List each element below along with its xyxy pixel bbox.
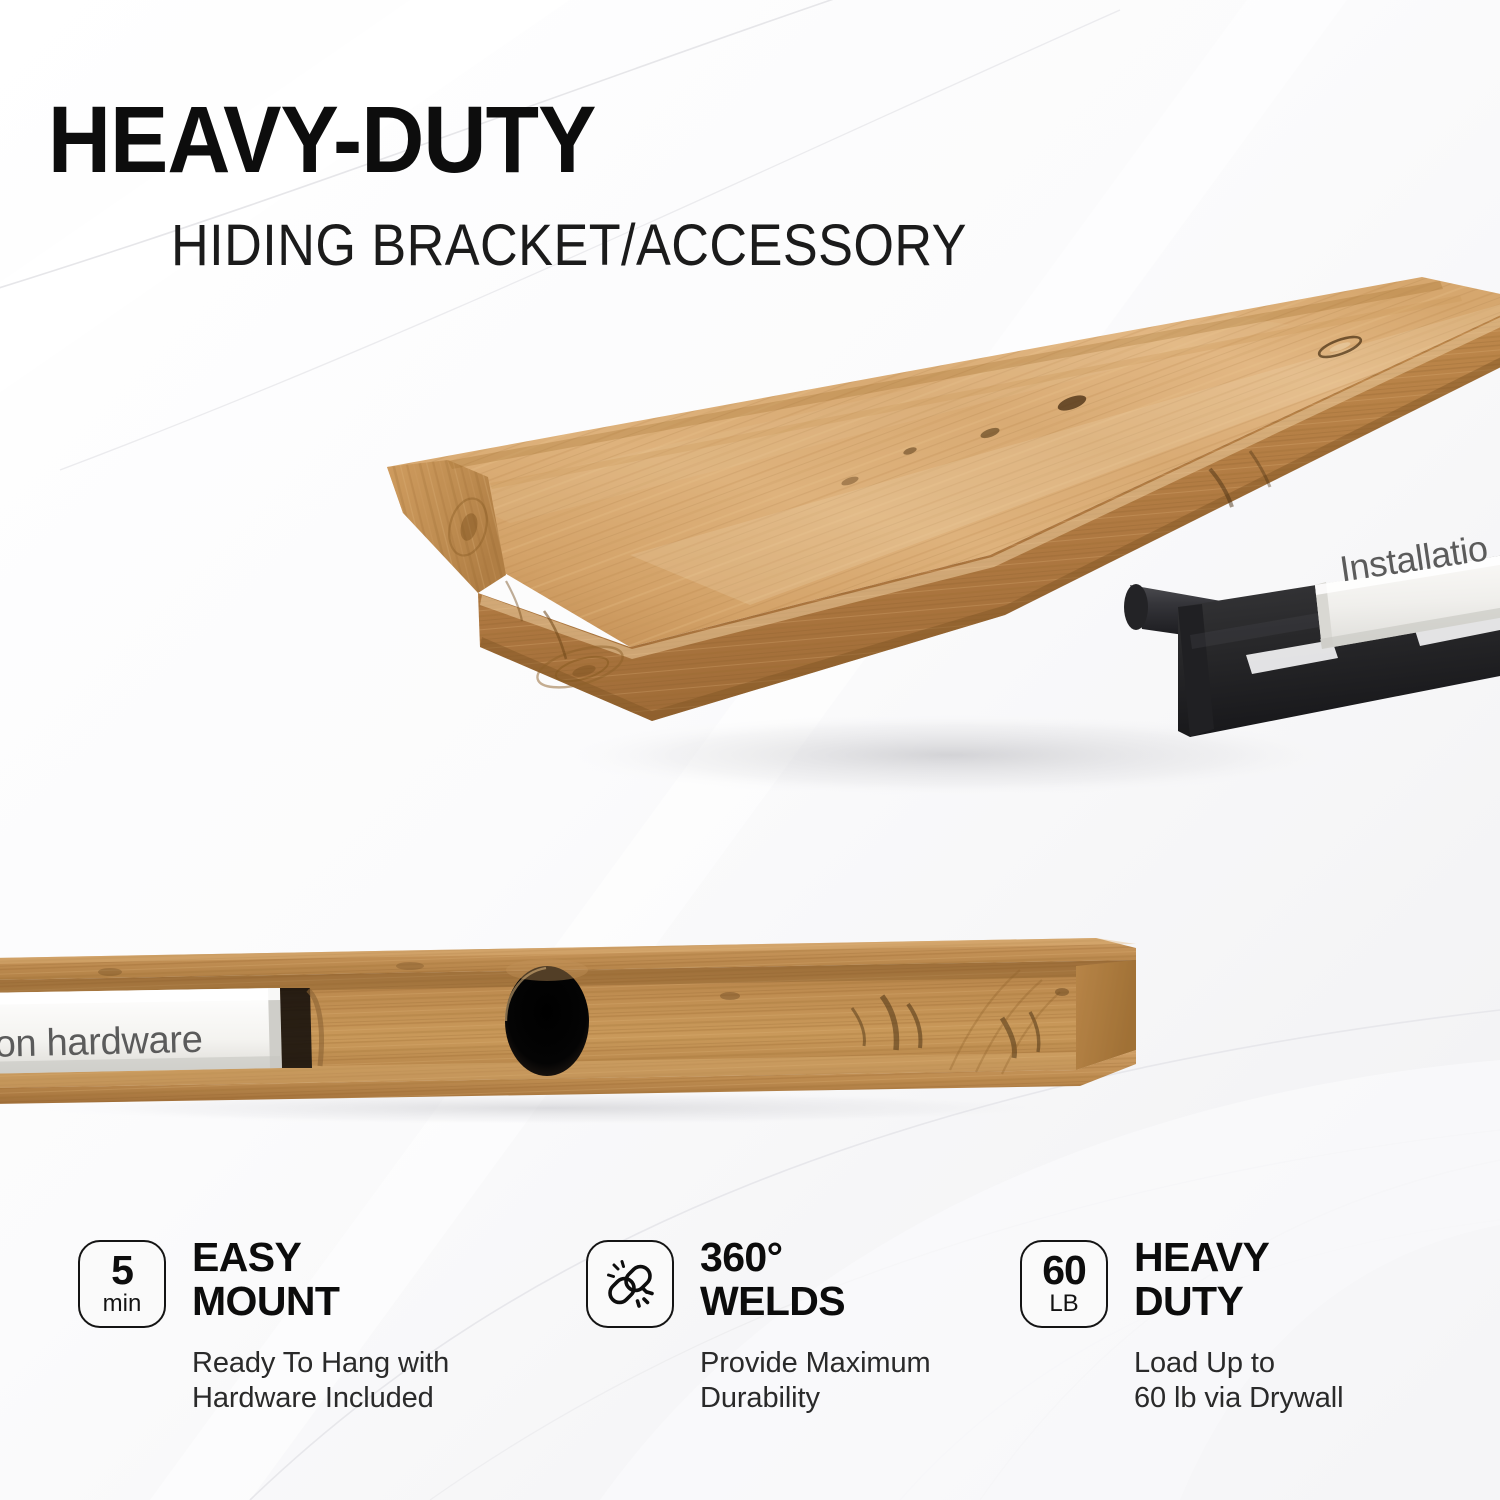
badge-unit: min: [103, 1291, 142, 1316]
feature-text: EASY MOUNT Ready To Hang with Hardware I…: [192, 1236, 449, 1417]
header-block: HEAVY-DUTY HIDING BRACKET/ACCESSORY: [0, 95, 1100, 275]
feature-description: Ready To Hang with Hardware Included: [192, 1346, 449, 1417]
feature-title: HEAVY DUTY: [1134, 1236, 1343, 1324]
badge-value: 5: [111, 1252, 133, 1289]
feature-heavy-duty: 60 LB HEAVY DUTY Load Up to 60 lb via Dr…: [980, 1236, 1500, 1466]
product-photo-bottom-shelf: [0, 900, 1170, 1130]
feature-text: 360° WELDS Provide Maximum Durability: [700, 1236, 931, 1417]
feature-title: 360° WELDS: [700, 1236, 931, 1324]
feature-title: EASY MOUNT: [192, 1236, 449, 1324]
product-photo-top-shelf: [330, 255, 1500, 815]
product-marketing-canvas: HEAVY-DUTY HIDING BRACKET/ACCESSORY: [0, 0, 1500, 1500]
weight-badge-icon: 60 LB: [1020, 1240, 1108, 1328]
installation-hardware-box: [0, 988, 322, 1074]
feature-easy-mount: 5 min EASY MOUNT Ready To Hang with Hard…: [0, 1236, 500, 1466]
feature-description: Provide Maximum Durability: [700, 1346, 931, 1417]
feature-text: HEAVY DUTY Load Up to 60 lb via Drywall: [1134, 1236, 1343, 1417]
badge-unit: LB: [1049, 1291, 1078, 1316]
badge-value: 60: [1042, 1252, 1086, 1289]
page-title: HEAVY-DUTY: [0, 95, 1012, 185]
feature-360-welds: 360° WELDS Provide Maximum Durability: [500, 1236, 980, 1466]
feature-badges-row: 5 min EASY MOUNT Ready To Hang with Hard…: [0, 1236, 1500, 1466]
time-badge-icon: 5 min: [78, 1240, 166, 1328]
mounting-hole: [505, 966, 589, 1076]
feature-description: Load Up to 60 lb via Drywall: [1134, 1346, 1343, 1417]
chain-link-weld-icon: [586, 1240, 674, 1328]
